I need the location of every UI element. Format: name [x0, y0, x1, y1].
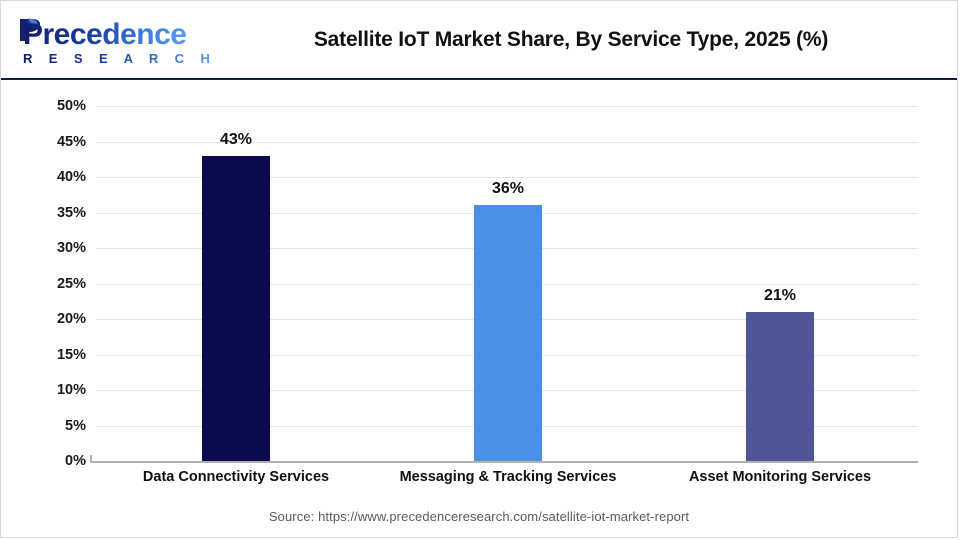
y-axis-tick-label: 20% — [26, 311, 86, 327]
x-axis-category-label: Asset Monitoring Services — [640, 469, 920, 485]
x-axis-category-label: Messaging & Tracking Services — [368, 469, 648, 485]
y-axis-labels: 0%5%10%15%20%25%30%35%40%45%50% — [21, 106, 86, 461]
bar[interactable] — [202, 156, 270, 461]
y-axis-tick-label: 30% — [26, 240, 86, 256]
bar-value-label: 43% — [176, 131, 296, 149]
x-axis-category-label: Data Connectivity Services — [96, 469, 376, 485]
x-axis-origin-tick — [90, 455, 92, 463]
y-axis-tick-label: 15% — [26, 347, 86, 363]
chart-frame: Precedence R E S E A R C H Satellite IoT… — [0, 0, 958, 538]
x-axis-line — [90, 461, 918, 463]
source-caption: Source: https://www.precedenceresearch.c… — [1, 509, 957, 524]
logo-subtitle: R E S E A R C H — [23, 51, 216, 66]
header-divider — [1, 78, 957, 80]
y-axis-tick-label: 35% — [26, 205, 86, 221]
y-axis-tick-label: 40% — [26, 169, 86, 185]
bar[interactable] — [746, 312, 814, 461]
y-axis-tick-label: 50% — [26, 98, 86, 114]
y-axis-tick-label: 10% — [26, 382, 86, 398]
bar[interactable] — [474, 205, 542, 461]
logo-wordmark: Precedence — [23, 18, 186, 52]
chart-header: Precedence R E S E A R C H Satellite IoT… — [1, 1, 957, 78]
y-axis-tick-label: 45% — [26, 134, 86, 150]
y-axis-tick-label: 25% — [26, 276, 86, 292]
bar-value-label: 36% — [448, 180, 568, 198]
gridline — [96, 106, 918, 107]
page-title: Satellite IoT Market Share, By Service T… — [201, 1, 941, 78]
bar-value-label: 21% — [720, 287, 840, 305]
y-axis-tick-label: 5% — [26, 418, 86, 434]
precedence-research-logo: Precedence R E S E A R C H — [15, 15, 175, 65]
y-axis-tick-label: 0% — [26, 453, 86, 469]
